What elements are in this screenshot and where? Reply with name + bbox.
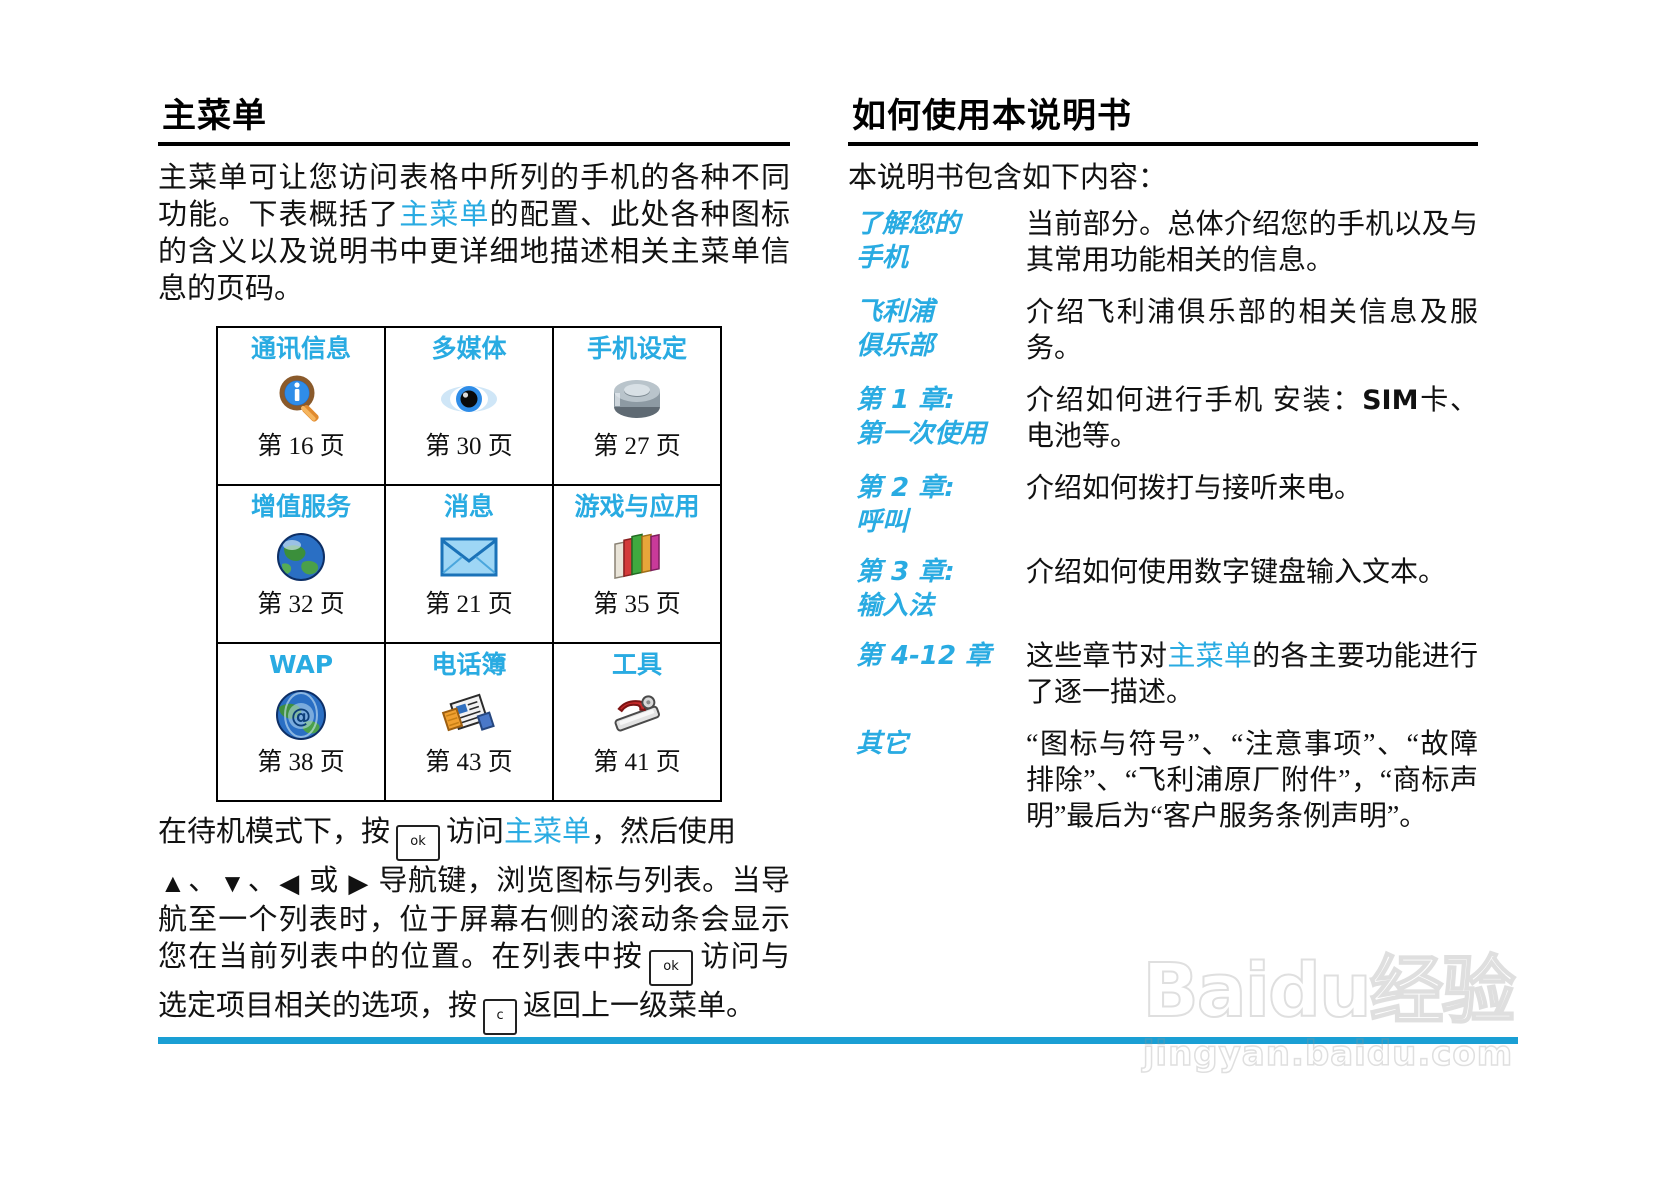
right-intro-text: 本说明书包含如下内容：: [848, 160, 1478, 197]
menu-cell-multimedia[interactable]: 多媒体 第 30 页: [385, 327, 553, 485]
howto-text-2: 访问: [446, 816, 504, 848]
def-term-line: 第一次使用: [856, 417, 1026, 451]
def-desc-chapters-4-12: 这些章节对主菜单的各主要功能进行了逐一描述。: [1026, 639, 1478, 711]
howto-mainmenu-link[interactable]: 主菜单: [504, 816, 591, 848]
phonebook-icon: [386, 683, 552, 747]
left-title-rule: [158, 142, 790, 146]
sim-label: SIM: [1362, 385, 1418, 416]
envelope-icon: [386, 525, 552, 589]
def-term-know-your-phone[interactable]: 了解您的 手机: [848, 207, 1026, 279]
cell-label: 游戏与应用: [554, 492, 720, 521]
desc-mainmenu-link[interactable]: 主菜单: [1167, 641, 1252, 672]
def-term-line: 呼叫: [856, 505, 1026, 539]
list-item: 其它 “图标与符号”、“注意事项”、“故障排除”、“飞利浦原厂附件”，“商标声明…: [848, 727, 1478, 835]
def-desc-others: “图标与符号”、“注意事项”、“故障排除”、“飞利浦原厂附件”，“商标声明”最后…: [1026, 727, 1478, 835]
cell-page-number: 第 43 页: [386, 749, 552, 777]
right-column: 如何使用本说明书 本说明书包含如下内容： 了解您的 手机 当前部分。总体介绍您的…: [848, 96, 1478, 851]
ok-key-icon-2[interactable]: ok: [649, 950, 693, 986]
svg-text:@: @: [291, 704, 311, 728]
cell-page-number: 第 21 页: [386, 591, 552, 619]
cell-label: 多媒体: [386, 334, 552, 363]
list-item: 第 4-12 章 这些章节对主菜单的各主要功能进行了逐一描述。: [848, 639, 1478, 711]
arrow-up-icon: ▲: [160, 869, 186, 898]
list-item: 飞利浦 俱乐部 介绍飞利浦俱乐部的相关信息及服务。: [848, 295, 1478, 367]
def-term-others[interactable]: 其它: [848, 727, 1026, 835]
def-term-line: 第 1 章:: [856, 383, 1026, 417]
def-term-line: 其它: [856, 727, 1026, 761]
cell-label: WAP: [218, 650, 384, 679]
table-row: 通讯信息 第 16 页: [217, 327, 721, 485]
desc-part-a: 这些章节对: [1026, 641, 1167, 672]
menu-cell-messages[interactable]: 消息 第 21 页: [385, 485, 553, 643]
def-desc-chapter-3: 介绍如何使用数字键盘输入文本。: [1026, 555, 1478, 623]
menu-cell-communication[interactable]: 通讯信息 第 16 页: [217, 327, 385, 485]
list-item: 第 1 章: 第一次使用 介绍如何进行手机 安装：SIM卡、电池等。: [848, 383, 1478, 455]
def-desc-chapter-1: 介绍如何进行手机 安装：SIM卡、电池等。: [1026, 383, 1478, 455]
ok-key-icon[interactable]: ok: [396, 825, 440, 861]
def-term-line: 输入法: [856, 589, 1026, 623]
cell-label: 通讯信息: [218, 334, 384, 363]
def-term-line: 飞利浦: [856, 295, 1026, 329]
left-howto-paragraph: 在待机模式下，按ok访问主菜单，然后使用 ▲、▼、◀ 或 ▶ 导航键，浏览图标与…: [158, 814, 790, 1037]
def-term-chapter-1[interactable]: 第 1 章: 第一次使用: [848, 383, 1026, 455]
list-item: 了解您的 手机 当前部分。总体介绍您的手机以及与其常用功能相关的信息。: [848, 207, 1478, 279]
arrow-left-icon: ◀: [279, 869, 299, 898]
cell-page-number: 第 35 页: [554, 591, 720, 619]
cell-label: 电话簿: [386, 650, 552, 679]
right-intro-paragraph: 本说明书包含如下内容：: [848, 160, 1478, 197]
def-term-line: 手机: [856, 241, 1026, 275]
manual-contents-list: 了解您的 手机 当前部分。总体介绍您的手机以及与其常用功能相关的信息。 飞利浦 …: [848, 207, 1478, 835]
left-section-title: 主菜单: [162, 96, 790, 136]
def-term-line: 了解您的: [856, 207, 1026, 241]
arrow-down-icon: ▼: [220, 869, 246, 898]
def-term-chapter-2[interactable]: 第 2 章: 呼叫: [848, 471, 1026, 539]
cell-page-number: 第 16 页: [218, 433, 384, 461]
eye-icon: [386, 367, 552, 431]
def-term-chapter-3[interactable]: 第 3 章: 输入法: [848, 555, 1026, 623]
cell-page-number: 第 27 页: [554, 433, 720, 461]
main-menu-icon-table: 通讯信息 第 16 页: [216, 326, 722, 802]
right-title-rule: [848, 142, 1478, 146]
def-desc-know-your-phone: 当前部分。总体介绍您的手机以及与其常用功能相关的信息。: [1026, 207, 1478, 279]
menu-cell-value-added-services[interactable]: 增值服务 第 32 页: [217, 485, 385, 643]
menu-cell-phonebook[interactable]: 电话簿: [385, 643, 553, 801]
howto-text-3: ，然后使用: [591, 816, 736, 848]
def-desc-chapter-2: 介绍如何拨打与接听来电。: [1026, 471, 1478, 539]
menu-cell-wap[interactable]: WAP @ 第 38 页: [217, 643, 385, 801]
c-key-icon[interactable]: c: [483, 999, 517, 1035]
cell-page-number: 第 41 页: [554, 749, 720, 777]
footer-rule: [158, 1037, 1518, 1044]
left-intro-paragraph: 主菜单可让您访问表格中所列的手机的各种不同功能。下表概括了主菜单的配置、此处各种…: [158, 160, 790, 308]
right-section-title: 如何使用本说明书: [852, 96, 1478, 136]
cell-label: 工具: [554, 650, 720, 679]
def-term-chapters-4-12[interactable]: 第 4-12 章: [848, 639, 1026, 711]
globe-icon: [218, 525, 384, 589]
menu-cell-phone-settings[interactable]: 手机设定 第 27 页: [553, 327, 721, 485]
def-term-line: 第 2 章:: [856, 471, 1026, 505]
cell-page-number: 第 30 页: [386, 433, 552, 461]
settings-cylinder-icon: [554, 367, 720, 431]
tools-icon: [554, 683, 720, 747]
arrow-right-icon: ▶: [348, 869, 368, 898]
def-term-philips-club[interactable]: 飞利浦 俱乐部: [848, 295, 1026, 367]
books-icon: [554, 525, 720, 589]
def-term-line: 第 4-12 章: [856, 639, 1026, 673]
howto-or: 或: [309, 865, 338, 897]
baidu-logo-text: Baidu经验: [1128, 952, 1528, 1030]
left-column: 主菜单 主菜单可让您访问表格中所列的手机的各种不同功能。下表概括了主菜单的配置、…: [158, 96, 790, 1037]
def-term-line: 第 3 章:: [856, 555, 1026, 589]
cell-page-number: 第 32 页: [218, 591, 384, 619]
howto-sep-2: 、: [248, 865, 277, 897]
def-desc-philips-club: 介绍飞利浦俱乐部的相关信息及服务。: [1026, 295, 1478, 367]
list-item: 第 2 章: 呼叫 介绍如何拨打与接听来电。: [848, 471, 1478, 539]
intro-mainmenu-link[interactable]: 主菜单: [399, 199, 489, 231]
cell-page-number: 第 38 页: [218, 749, 384, 777]
def-term-line: 俱乐部: [856, 329, 1026, 363]
cell-label: 手机设定: [554, 334, 720, 363]
table-row: 增值服务 第 32 页: [217, 485, 721, 643]
cell-label: 消息: [386, 492, 552, 521]
desc-pre: 介绍如何进行手机 安装：: [1026, 385, 1362, 416]
list-item: 第 3 章: 输入法 介绍如何使用数字键盘输入文本。: [848, 555, 1478, 623]
cell-label: 增值服务: [218, 492, 384, 521]
menu-cell-tools[interactable]: 工具: [553, 643, 721, 801]
howto-sep-1: 、: [188, 865, 217, 897]
table-row: WAP @ 第 38 页: [217, 643, 721, 801]
magnifier-info-icon: [218, 367, 384, 431]
menu-cell-games-apps[interactable]: 游戏与应用: [553, 485, 721, 643]
globe-at-icon: @: [218, 683, 384, 747]
howto-text-6: 返回上一级菜单。: [523, 990, 755, 1022]
howto-text-1: 在待机模式下，按: [158, 816, 390, 848]
manual-page: 主菜单 主菜单可让您访问表格中所列的手机的各种不同功能。下表概括了主菜单的配置、…: [0, 0, 1676, 1192]
baidu-watermark: Baidu经验 jingyan.baidu.com: [1128, 952, 1528, 1074]
